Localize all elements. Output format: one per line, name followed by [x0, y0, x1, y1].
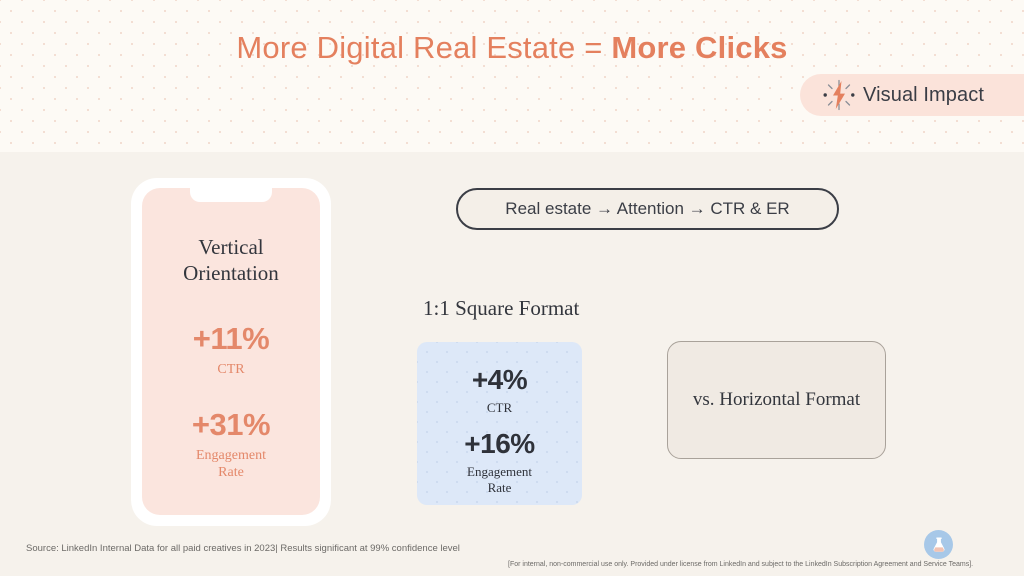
- source-note: Source: LinkedIn Internal Data for all p…: [26, 543, 460, 554]
- square-format-box: +4% CTR +16% Engagement Rate: [417, 342, 582, 505]
- phone-stat-ctr-label: CTR: [142, 362, 320, 379]
- phone-stat-ctr-value: +11%: [142, 321, 320, 357]
- horizontal-format-card: vs. Horizontal Format: [667, 341, 886, 459]
- page-title: More Digital Real Estate = More Clicks: [0, 30, 1024, 66]
- legal-note: [For internal, non-commercial use only. …: [508, 561, 973, 568]
- phone-screen: Vertical Orientation +11% CTR +31% Engag…: [142, 188, 320, 515]
- phone-stat-engagement-value: +31%: [142, 407, 320, 443]
- square-format-heading: 1:1 Square Format: [423, 296, 579, 321]
- square-stat-engagement-label-line1: Engagement: [417, 464, 582, 480]
- phone-stat-engagement-label-line2: Rate: [142, 465, 320, 482]
- vertical-orientation-title: Vertical Orientation: [142, 234, 320, 287]
- visual-impact-label: Visual Impact: [863, 84, 984, 107]
- square-stat-engagement-label-line2: Rate: [417, 480, 582, 496]
- phone-notch: [190, 188, 272, 202]
- page-title-light: More Digital Real Estate =: [236, 30, 611, 65]
- square-stat-ctr-label: CTR: [417, 400, 582, 416]
- phone-stat-engagement-label: Engagement Rate: [142, 448, 320, 482]
- vertical-orientation-title-line2: Orientation: [142, 260, 320, 286]
- slide-canvas: More Digital Real Estate = More Clicks V…: [0, 0, 1024, 576]
- phone-mockup-vertical: Vertical Orientation +11% CTR +31% Engag…: [131, 178, 331, 526]
- horizontal-format-label: vs. Horizontal Format: [693, 389, 860, 411]
- flow-pill-label: Real estate → Attention → CTR & ER: [505, 199, 789, 219]
- visual-impact-badge: Visual Impact: [800, 74, 1024, 116]
- lightning-bolt-icon: [822, 78, 856, 112]
- flask-icon: [924, 530, 953, 559]
- page-title-bold: More Clicks: [611, 30, 787, 65]
- flow-pill: Real estate → Attention → CTR & ER: [456, 188, 839, 230]
- vertical-orientation-title-line1: Vertical: [142, 234, 320, 260]
- phone-stat-engagement-label-line1: Engagement: [142, 448, 320, 465]
- square-stat-engagement-label: Engagement Rate: [417, 464, 582, 496]
- square-stat-ctr-value: +4%: [417, 364, 582, 396]
- square-stat-engagement-value: +16%: [417, 428, 582, 460]
